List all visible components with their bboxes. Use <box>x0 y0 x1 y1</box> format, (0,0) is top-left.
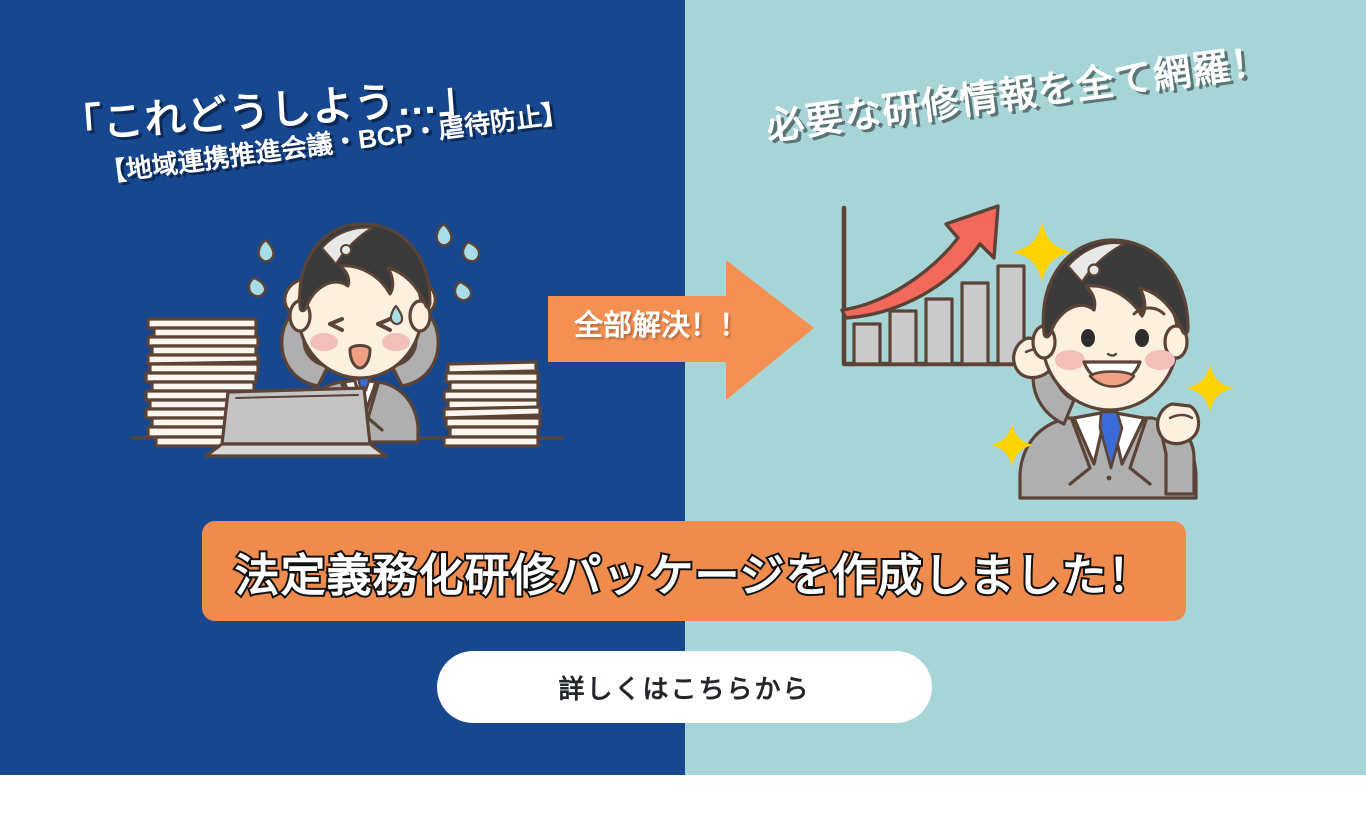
solution-arrow: 全部解決！！ <box>548 252 816 404</box>
hero-banner: 「これどうしよう…」 【地域連携推進会議・BCP・虐待防止】 必要な研修情報を全… <box>0 0 1366 775</box>
details-cta-label: 詳しくはこちらから <box>558 669 810 706</box>
stressed-businessman-illustration <box>118 206 574 483</box>
right-arrow-icon <box>548 252 816 404</box>
headline-text: 法定義務化研修パッケージを作成しました！ <box>234 539 1153 604</box>
headline-banner: 法定義務化研修パッケージを作成しました！ <box>202 521 1186 621</box>
happy-businessman-growth-chart-illustration <box>822 186 1240 513</box>
details-cta-button[interactable]: 詳しくはこちらから <box>437 651 932 723</box>
